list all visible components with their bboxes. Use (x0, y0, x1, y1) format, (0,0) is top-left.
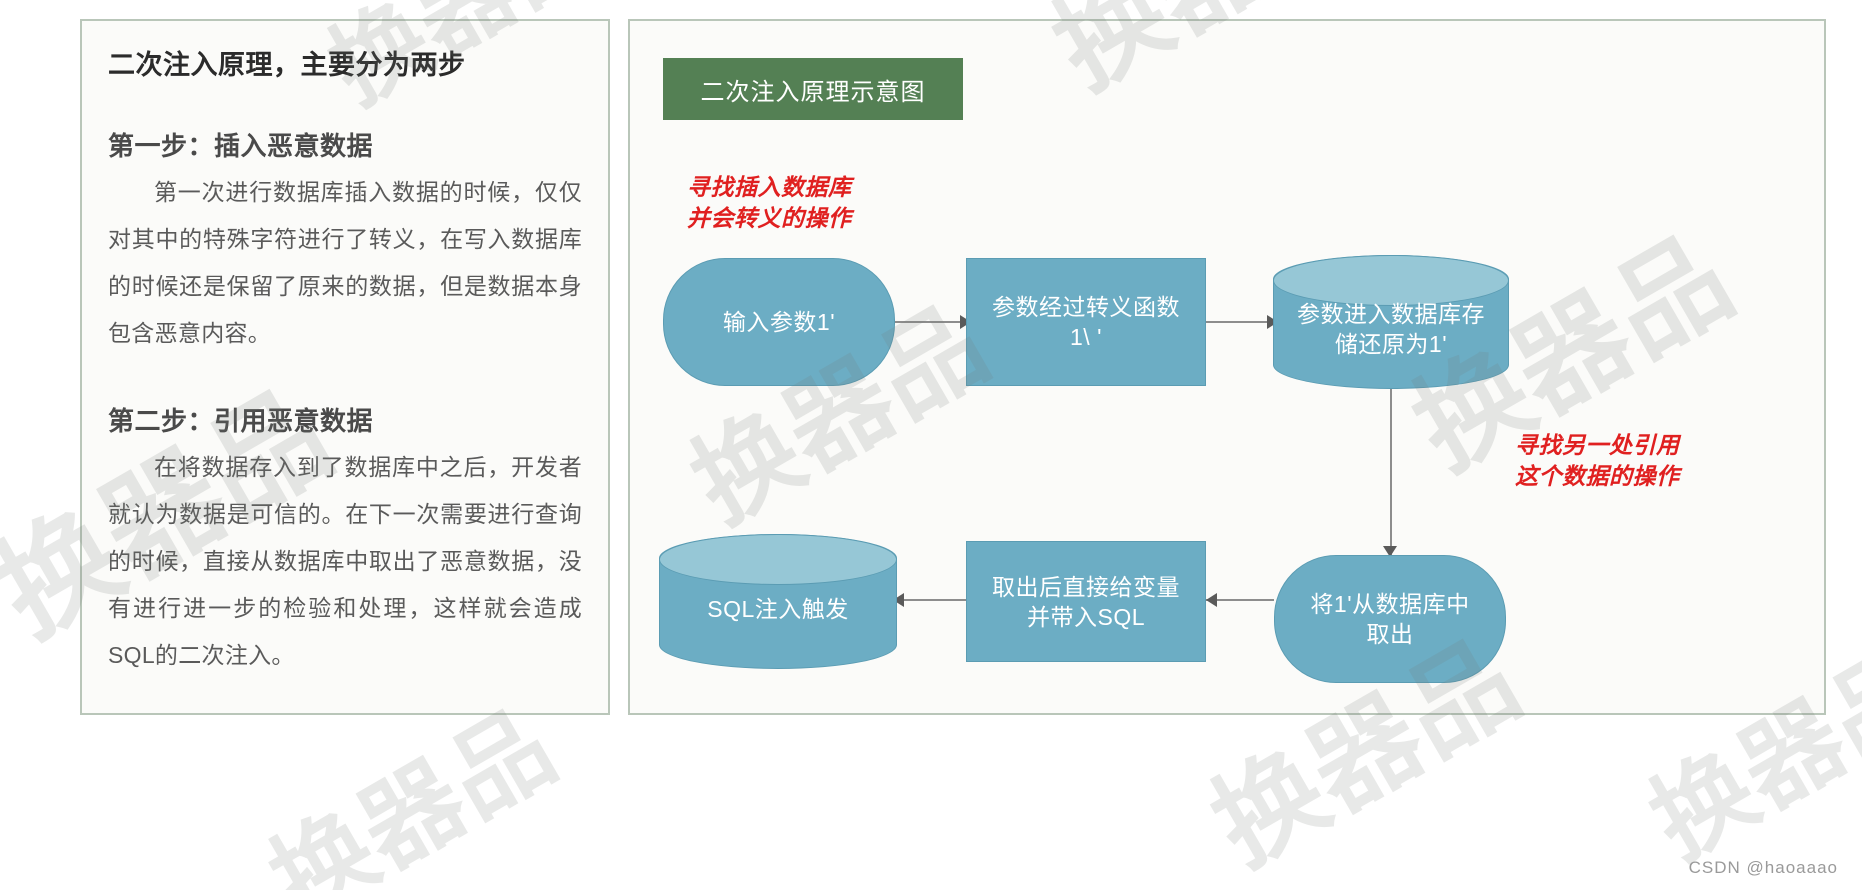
node-db-store-label: 参数进入数据库存 储还原为1' (1273, 255, 1509, 389)
node-pass-to-sql: 取出后直接给变量 并带入SQL (966, 541, 1206, 662)
credit-label: CSDN @haoaaao (1689, 858, 1838, 878)
node-input-param: 输入参数1' (663, 258, 895, 386)
node-escape-function: 参数经过转义函数 1\ ' (966, 258, 1206, 386)
connector-store-to-fetch-upper (1390, 389, 1392, 522)
annotation-find-reference-operation: 寻找另一处引用 这个数据的操作 (1515, 430, 1680, 492)
connector-sqlvar-to-trigger (895, 599, 966, 601)
connector-input-to-escape (895, 321, 966, 323)
connector-escape-to-store (1206, 321, 1273, 323)
diagram-panel: 二次注入原理示意图 寻找插入数据库 并会转义的操作 输入参数1' 参数经过转义函… (628, 19, 1826, 715)
step-one-body: 第一次进行数据库插入数据的时候，仅仅对其中的特殊字符进行了转义，在写入数据库的时… (108, 169, 582, 357)
node-db-fetch: 将1'从数据库中 取出 (1274, 555, 1506, 683)
step-two-body: 在将数据存入到了数据库中之后，开发者就认为数据是可信的。在下一次需要进行查询的时… (108, 444, 582, 679)
diagram-title: 二次注入原理示意图 (663, 58, 963, 120)
arrow-left-icon (1206, 593, 1217, 607)
page-title: 二次注入原理，主要分为两步 (108, 43, 582, 82)
step-two-heading: 第二步：引用恶意数据 (108, 401, 582, 438)
node-sql-injection: SQL注入触发 (659, 534, 897, 669)
explanation-panel: 二次注入原理，主要分为两步 第一步：插入恶意数据 第一次进行数据库插入数据的时候… (80, 19, 610, 715)
node-db-store: 参数进入数据库存 储还原为1' (1273, 255, 1509, 389)
node-sql-injection-label: SQL注入触发 (659, 534, 897, 669)
step-one-heading: 第一步：插入恶意数据 (108, 126, 582, 163)
annotation-find-insert-operation: 寻找插入数据库 并会转义的操作 (687, 172, 852, 234)
